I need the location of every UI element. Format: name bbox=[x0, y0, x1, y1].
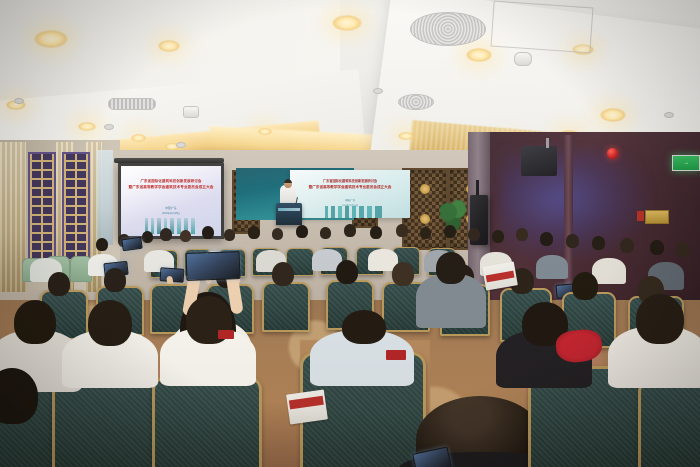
recessed-light bbox=[466, 48, 492, 62]
wall-speaker bbox=[521, 146, 557, 176]
attendee-head bbox=[650, 240, 664, 255]
attendee-head bbox=[392, 262, 414, 286]
attendee-head bbox=[572, 272, 598, 300]
recessed-light bbox=[158, 40, 180, 52]
attendee-head bbox=[396, 224, 408, 237]
window-pane bbox=[97, 150, 113, 245]
monitor-mount bbox=[546, 138, 549, 148]
recessed-light bbox=[258, 128, 272, 135]
smoke-detector-icon bbox=[373, 88, 383, 94]
wall-notice-red bbox=[637, 211, 644, 221]
screen-title-line1: 广东省国际化建筑科技创新发展研讨会 bbox=[127, 179, 215, 184]
attendee-head bbox=[436, 252, 466, 284]
recessed-light bbox=[34, 30, 68, 48]
fire-alarm-icon bbox=[607, 148, 618, 159]
attendee-torso bbox=[536, 255, 568, 279]
smoke-detector-icon bbox=[176, 142, 186, 148]
attendee-head bbox=[620, 238, 634, 253]
banquet-chair bbox=[152, 376, 262, 467]
attendee-head bbox=[160, 228, 172, 241]
smoke-detector-icon bbox=[664, 112, 674, 118]
exit-sign: → bbox=[672, 155, 700, 171]
attendee-head bbox=[566, 234, 579, 248]
attendee-head bbox=[420, 227, 431, 239]
attendee-head bbox=[344, 224, 356, 237]
lectern-screen bbox=[278, 208, 300, 211]
attendee-head bbox=[48, 272, 70, 296]
ceiling-projector bbox=[183, 106, 199, 118]
screen-title-line2: 暨广东省高等教学学会建筑技术专业委员会成立大会 bbox=[125, 185, 217, 190]
attendee-head bbox=[492, 230, 504, 243]
attendee-head bbox=[202, 226, 214, 239]
conference-hall-photo: 广东省国际化建筑科技创新发展研讨会 暨广东省高等教学学会建筑技术专业委员会成立大… bbox=[0, 0, 700, 467]
attendee-head bbox=[296, 225, 308, 238]
name-badge bbox=[386, 350, 406, 360]
ceiling-projector bbox=[514, 52, 532, 66]
banquet-chair bbox=[638, 378, 700, 467]
attendee-head bbox=[444, 225, 456, 238]
attendee-head bbox=[14, 300, 56, 344]
attendee-head bbox=[516, 228, 528, 241]
recessed-light bbox=[131, 134, 146, 142]
screen-date: 2019年11月15日 bbox=[121, 211, 221, 215]
attendee-head bbox=[224, 229, 235, 241]
lectern bbox=[276, 203, 302, 225]
attendee-head bbox=[248, 226, 260, 239]
smoke-detector-icon bbox=[14, 98, 24, 104]
ceiling-air-vent bbox=[398, 94, 434, 110]
attendee-head bbox=[540, 232, 553, 246]
skyline-graphic bbox=[322, 206, 382, 218]
attendee-head bbox=[592, 236, 605, 250]
recessed-light bbox=[332, 15, 362, 31]
presenter-head bbox=[284, 179, 292, 188]
recessed-light bbox=[600, 108, 626, 122]
attendee-head bbox=[676, 242, 690, 257]
recessed-light bbox=[398, 132, 414, 140]
attendee-head bbox=[370, 226, 382, 239]
program-booklet bbox=[286, 390, 328, 425]
screen2-title-line1: 广东省国际化建筑科技创新发展研讨会 bbox=[294, 179, 406, 183]
smoke-detector-icon bbox=[104, 124, 114, 130]
attendee-head bbox=[96, 238, 108, 251]
attendee-head bbox=[320, 227, 331, 239]
attendee-head bbox=[272, 228, 283, 240]
attendee-head bbox=[342, 310, 386, 344]
ceiling-access-panel bbox=[491, 1, 594, 54]
decorative-lattice-panel bbox=[62, 152, 90, 272]
screen2-title-line2: 暨广东省高等教学学会建筑技术专业委员会成立大会 bbox=[292, 185, 408, 189]
attendee-head bbox=[636, 294, 684, 344]
screen2-location: 中国·广东 bbox=[290, 198, 410, 202]
attendee-head bbox=[272, 262, 294, 286]
attendee-head bbox=[104, 268, 126, 292]
ceiling-vent-slot bbox=[108, 98, 156, 110]
decorative-lattice-panel bbox=[28, 152, 56, 272]
name-badge bbox=[218, 330, 234, 339]
wall-notice-plate bbox=[645, 210, 669, 224]
recessed-light bbox=[78, 122, 96, 131]
attendee-head bbox=[336, 260, 358, 284]
banquet-chair bbox=[262, 282, 310, 332]
projection-screen-secondary: 广东省国际化建筑科技创新发展研讨会 暨广东省高等教学学会建筑技术专业委员会成立大… bbox=[290, 170, 410, 218]
attendee-head bbox=[88, 300, 132, 346]
ceiling-air-vent bbox=[410, 12, 486, 46]
attendee-head bbox=[142, 231, 153, 243]
attendee-head bbox=[180, 230, 191, 242]
attendee-head bbox=[468, 228, 480, 241]
smartphone-raised bbox=[186, 251, 241, 281]
screen-location: 中国·广东 bbox=[121, 206, 221, 210]
